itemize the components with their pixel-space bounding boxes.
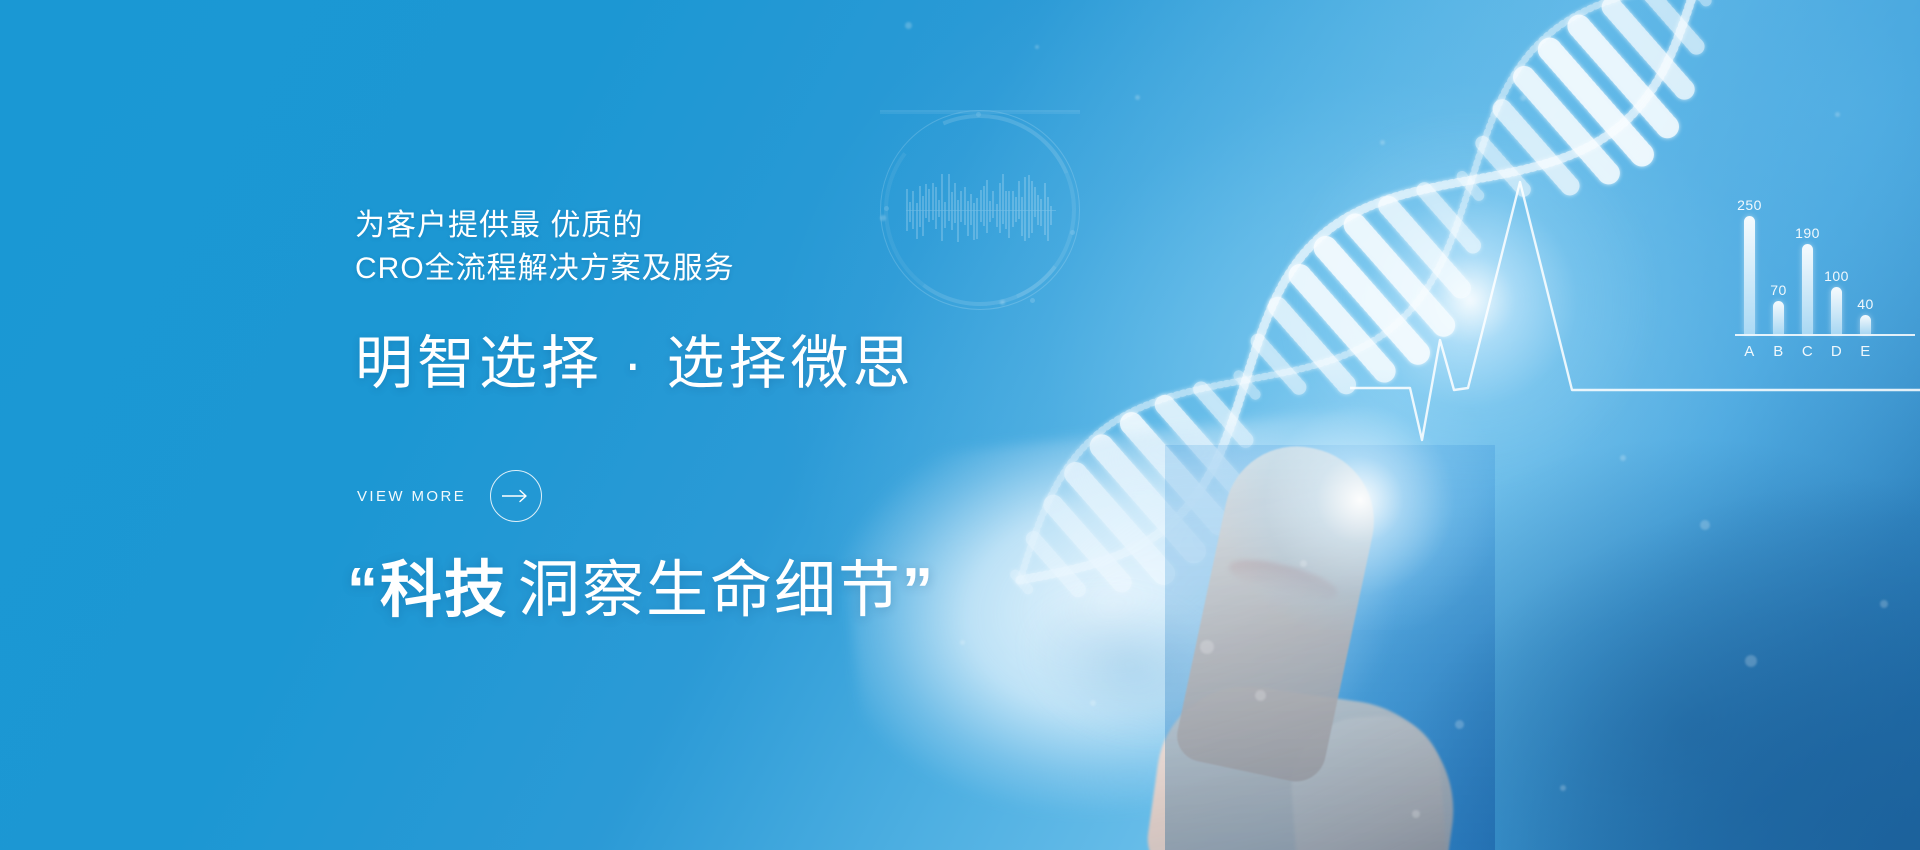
hero-banner: 2507019010040 ABCDE 为客户提供最 优质的 CRO全流程解决方… [0,0,1920,850]
hero-quote: “科技洞察生命细节” [347,555,935,626]
chart-bar-column: 250 [1743,216,1756,334]
bokeh-dot [1880,600,1888,608]
quote-open-mark: “ [347,556,380,625]
chart-value-label: 250 [1737,197,1762,213]
chart-bar [1831,287,1842,334]
bokeh-dot [1200,640,1214,654]
bokeh-dot [1745,655,1757,667]
chart-bar [1802,244,1813,334]
chart-category-label: B [1772,343,1785,360]
chart-bar [1773,301,1784,334]
view-more-button[interactable]: VIEW MORE [357,470,542,522]
hero-headline: 明智选择 · 选择微思 [355,330,915,397]
chart-category-label: D [1830,343,1843,360]
quote-close-mark: ” [902,556,935,625]
chart-value-label: 40 [1857,296,1874,312]
view-more-label: VIEW MORE [357,488,466,505]
chart-bar [1860,315,1871,334]
bokeh-dot [1835,112,1840,117]
chart-bar-column: 70 [1772,301,1785,334]
chart-bar [1744,216,1755,334]
chart-axis-line [1735,334,1915,336]
chart-bar-column: 40 [1859,315,1872,334]
arrow-right-icon[interactable] [490,470,542,522]
bokeh-dot [1135,95,1140,100]
chart-value-label: 100 [1824,268,1849,284]
chart-category-label: A [1743,343,1756,360]
hero-content: 为客户提供最 优质的 CRO全流程解决方案及服务 明智选择 · 选择微思 VIE… [355,0,1135,850]
bokeh-dot [1455,720,1464,729]
chart-bar-column: 100 [1830,287,1843,334]
hero-subtitle: 为客户提供最 优质的 CRO全流程解决方案及服务 [355,205,735,290]
quote-keyword: 科技 [380,556,508,625]
bokeh-dot [1560,785,1566,791]
quote-rest: 洞察生命细节 [508,556,902,625]
chart-category-label: C [1801,343,1814,360]
chart-category-label: E [1859,343,1872,360]
bokeh-dot [1300,560,1307,567]
bokeh-dot [1255,690,1266,701]
chart-value-label: 190 [1795,225,1820,241]
bokeh-dot [1700,520,1710,530]
mini-bar-chart: 2507019010040 ABCDE [1735,185,1920,360]
chart-value-label: 70 [1770,282,1787,298]
bokeh-dot [1520,95,1526,101]
chart-bar-column: 190 [1801,244,1814,334]
bokeh-dot [1412,810,1420,818]
